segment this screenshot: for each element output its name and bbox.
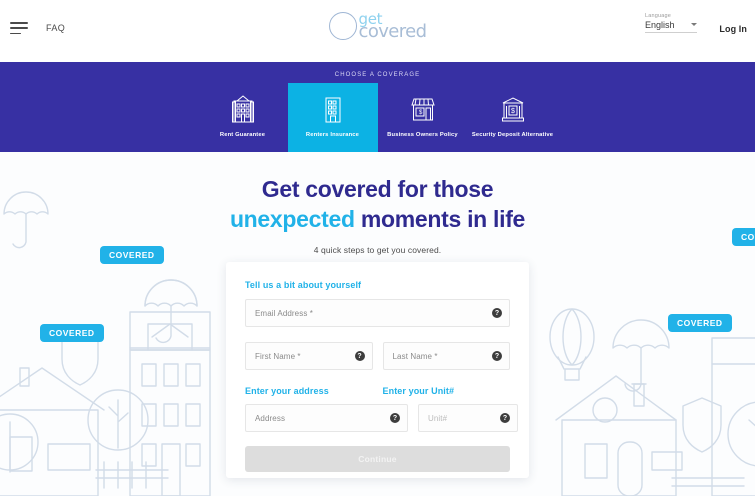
- page-title: Get covered for those unexpected moments…: [0, 174, 755, 235]
- address-fields-row: Address ? Unit# ?: [245, 404, 510, 432]
- help-icon[interactable]: ?: [492, 351, 502, 361]
- address-placeholder: Address: [255, 414, 285, 423]
- chevron-down-icon: [691, 23, 697, 26]
- continue-button[interactable]: Continue: [245, 446, 510, 472]
- coverage-option-label: Renters Insurance: [306, 132, 359, 140]
- site-logo[interactable]: get covered: [329, 12, 427, 40]
- coverage-option-security-deposit-alternative[interactable]: $ Security Deposit Alternative: [468, 83, 558, 152]
- email-field[interactable]: Email Address * ?: [245, 299, 510, 327]
- address-section-label: Enter your address: [245, 386, 373, 396]
- help-icon[interactable]: ?: [390, 413, 400, 423]
- unit-section-label: Enter your Unit#: [383, 386, 511, 396]
- last-name-field[interactable]: Last Name * ?: [383, 342, 511, 370]
- svg-text:$: $: [419, 110, 423, 116]
- login-button[interactable]: Log In: [719, 24, 747, 34]
- unit-placeholder: Unit#: [428, 414, 447, 423]
- form-section-title: Tell us a bit about yourself: [245, 280, 510, 290]
- signup-form-card: Tell us a bit about yourself Email Addre…: [226, 262, 529, 478]
- language-selector[interactable]: Language English: [645, 13, 697, 33]
- covered-badge: COVERED: [40, 324, 104, 342]
- language-value: English: [645, 20, 675, 30]
- coverage-option-renters-insurance[interactable]: Renters Insurance: [288, 83, 378, 152]
- last-name-placeholder: Last Name *: [393, 352, 438, 361]
- coverage-option-business-owners-policy[interactable]: $ Business Owners Policy: [378, 83, 468, 152]
- first-name-field[interactable]: First Name * ?: [245, 342, 373, 370]
- coverage-options: Rent Guarantee Renters Insurance: [0, 83, 755, 152]
- language-value-row: English: [645, 19, 697, 30]
- site-header: FAQ get covered Language English Log In: [0, 0, 755, 62]
- help-icon[interactable]: ?: [500, 413, 510, 423]
- coverage-option-rent-guarantee[interactable]: Rent Guarantee: [198, 83, 288, 152]
- hero-copy: Get covered for those unexpected moments…: [0, 152, 755, 255]
- coverage-option-label: Security Deposit Alternative: [472, 132, 553, 140]
- page-subtitle: 4 quick steps to get you covered.: [0, 245, 755, 255]
- logo-wordmark: get covered: [359, 13, 427, 39]
- address-section-labels: Enter your address Enter your Unit#: [245, 386, 510, 396]
- first-name-placeholder: First Name *: [255, 352, 301, 361]
- storefront-icon: $: [406, 92, 440, 126]
- address-field[interactable]: Address ?: [245, 404, 408, 432]
- hamburger-menu-icon[interactable]: [10, 22, 28, 34]
- covered-badge: COVERED: [668, 314, 732, 332]
- highrise-building-icon: [316, 92, 350, 126]
- headline-rest: moments in life: [355, 206, 525, 232]
- unit-field[interactable]: Unit# ?: [418, 404, 518, 432]
- bank-dollar-icon: $: [496, 92, 530, 126]
- headline-line-2: unexpected moments in life: [0, 204, 755, 234]
- circle-outline-icon: [329, 12, 357, 40]
- faq-link[interactable]: FAQ: [46, 23, 65, 33]
- coverage-option-label: Rent Guarantee: [220, 132, 265, 140]
- help-icon[interactable]: ?: [492, 308, 502, 318]
- headline-line-1: Get covered for those: [0, 174, 755, 204]
- coverage-option-label: Business Owners Policy: [387, 132, 458, 140]
- apartment-building-icon: [226, 92, 260, 126]
- page-root: FAQ get covered Language English Log In …: [0, 0, 755, 496]
- headline-accent-word: unexpected: [230, 206, 355, 232]
- email-placeholder: Email Address *: [255, 309, 313, 318]
- coverage-nav: CHOOSE A COVERAGE Rent Guarantee: [0, 62, 755, 152]
- help-icon[interactable]: ?: [355, 351, 365, 361]
- logo-text-covered: covered: [359, 24, 427, 39]
- name-fields-row: First Name * ? Last Name * ?: [245, 342, 510, 370]
- svg-text:$: $: [511, 108, 515, 115]
- coverage-nav-title: CHOOSE A COVERAGE: [0, 72, 755, 78]
